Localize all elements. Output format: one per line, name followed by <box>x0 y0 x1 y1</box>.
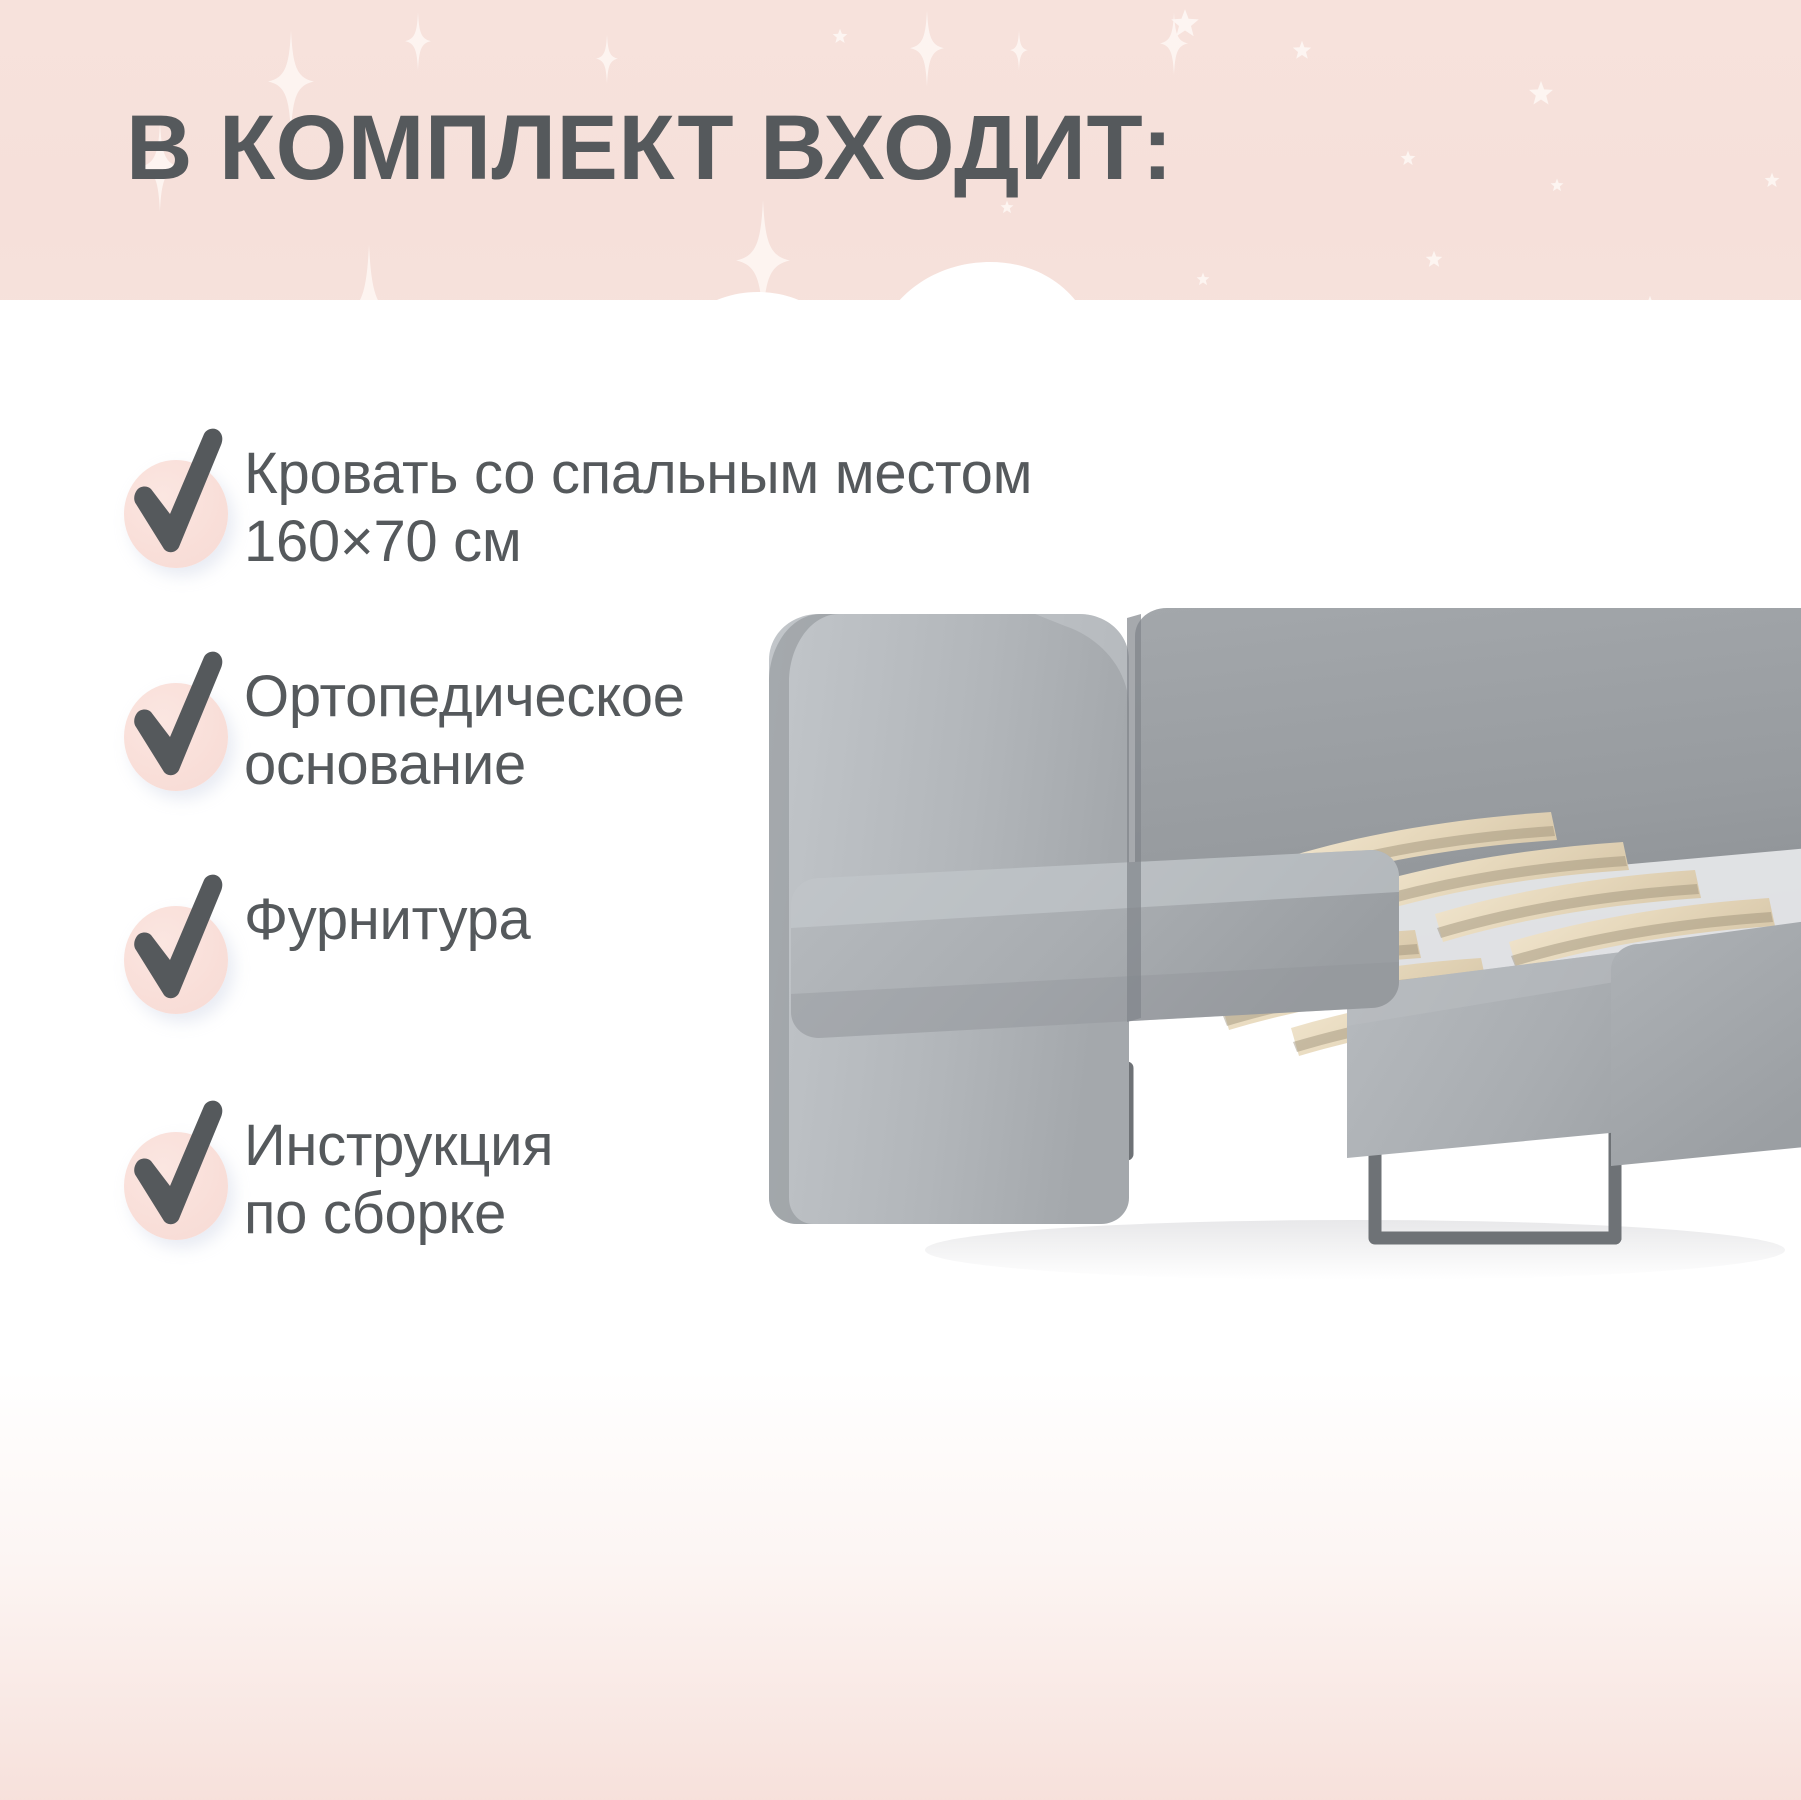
checklist-item-line: Инструкция <box>244 1112 1148 1180</box>
checklist-item-label: Кровать со спальным местом160×70 см <box>244 432 1148 577</box>
checkmark-badge <box>118 659 244 785</box>
checkmark-badge <box>118 882 244 1008</box>
checkmark-badge <box>118 1108 244 1234</box>
checklist-item-label: Ортопедическоеоснование <box>244 655 1148 800</box>
checklist-item-1: Кровать со спальным местом160×70 см <box>118 432 1148 577</box>
infographic-canvas: В КОМПЛЕКТ ВХОДИТ: <box>0 0 1801 1800</box>
checklist-item-line: Фурнитура <box>244 886 1148 954</box>
checklist-item-label: Инструкцияпо сборке <box>244 1104 1148 1249</box>
checkmark-icon <box>116 651 236 783</box>
checkmark-icon <box>116 428 236 560</box>
checkmark-icon <box>116 1100 236 1232</box>
checklist-item-line: Ортопедическое <box>244 663 1148 731</box>
checklist-item-line: по сборке <box>244 1180 1148 1248</box>
checkmark-badge <box>118 436 244 562</box>
checklist-item-2: Ортопедическоеоснование <box>118 655 1148 800</box>
checkmark-icon <box>116 874 236 1006</box>
page-title: В КОМПЛЕКТ ВХОДИТ: <box>126 96 1173 201</box>
checklist-item-line: 160×70 см <box>244 508 1148 576</box>
checklist-item-label: Фурнитура <box>244 878 1148 954</box>
checklist-item-line: основание <box>244 731 1148 799</box>
checklist-item-line: Кровать со спальным местом <box>244 440 1148 508</box>
checklist: Кровать со спальным местом160×70 смОртоп… <box>118 432 1148 1249</box>
checklist-item-4: Инструкцияпо сборке <box>118 1104 1148 1249</box>
checklist-item-3: Фурнитура <box>118 878 1148 1008</box>
